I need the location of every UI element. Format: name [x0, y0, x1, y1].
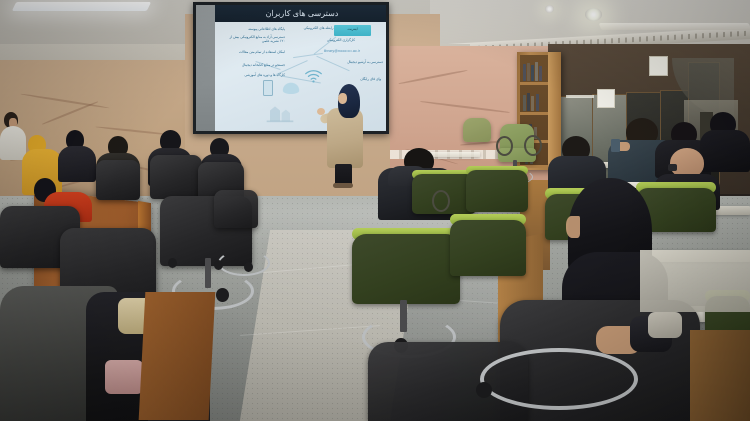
chair-arm-loop: [432, 190, 450, 212]
lecture-hall-photo: دسترسی های کاربران پایگاه های اطلاعاتی پ…: [0, 0, 750, 421]
wood-panel-foreground: [139, 292, 216, 420]
slide-text-block-8: دسترسی به آرشیو دیجیتال: [341, 60, 383, 64]
auditorium-seat[interactable]: [352, 234, 460, 304]
book: [535, 62, 538, 81]
wood-panel-right-front: [690, 330, 750, 421]
ceiling-beam: [599, 23, 750, 30]
shelf-board: [520, 82, 548, 85]
office-chair[interactable]: [150, 155, 202, 199]
university-logo: [263, 103, 297, 123]
slide-text-block-2: دسترسی آزاد به منابع الکترونیکی بیش از ۱…: [225, 35, 285, 43]
audience-member: [58, 130, 100, 182]
auditorium-seat[interactable]: [466, 170, 528, 212]
slide-title: دسترسی های کاربران: [243, 7, 361, 20]
chair-caster: [214, 260, 223, 270]
chair-base: [480, 348, 638, 410]
cloud-icon: [281, 81, 301, 94]
book: [527, 93, 530, 111]
office-chair[interactable]: [214, 190, 258, 228]
presenter-hand: [317, 108, 325, 115]
auditorium-seat[interactable]: [450, 220, 526, 276]
sage-chair-back-2[interactable]: [463, 118, 491, 142]
presenter: [320, 82, 368, 190]
desk-right-front: [640, 250, 750, 312]
book: [523, 64, 526, 81]
foreground-pink-item: [105, 360, 143, 394]
foreground-paper: [648, 312, 682, 338]
slide-text-block-9: وای فای رایگان: [337, 77, 381, 81]
slide-text-block-5: کارگاه ها و دوره های آموزشی: [231, 73, 285, 77]
slide-text-block-3: امکان استفاده از تمام متن مقالات: [231, 50, 285, 54]
chair-caster: [476, 382, 492, 398]
door-sign: [649, 56, 668, 76]
mobile-icon: [263, 80, 273, 96]
book: [539, 66, 542, 81]
phone-icon: [611, 139, 620, 152]
presenter-shoes: [333, 183, 353, 188]
ceiling-spotlight-secondary-icon: [545, 5, 554, 13]
slide-text-block-4: جستجو در منابع کتابخانه دیجیتال: [233, 63, 285, 67]
office-chair[interactable]: [96, 160, 140, 200]
shelf-board: [520, 112, 548, 115]
book: [531, 65, 534, 81]
slide-text-block-1: پایگاه های اطلاعاتی پیوسته: [229, 27, 285, 31]
chair-arm-loop: [496, 136, 513, 156]
book: [536, 94, 539, 111]
posted-notice: [597, 89, 615, 108]
chair-arm-loop: [524, 135, 542, 156]
slide-highlight-label: اینترنت: [336, 27, 369, 31]
chair-caster: [168, 258, 177, 268]
ceiling-spotlight-icon: [585, 8, 602, 21]
wifi-icon: [304, 69, 323, 83]
slide-email-text: library@nooo••••.ac.ir: [311, 49, 373, 53]
slide-text-block-7: کارگزاری الکترونیکی: [305, 38, 355, 42]
book: [531, 96, 534, 111]
presenter-face: [338, 93, 347, 104]
book: [523, 95, 526, 111]
glass-reflection-strip: [566, 95, 594, 98]
chair-base: [218, 250, 270, 276]
fluorescent-strip-icon: [12, 2, 151, 11]
book: [527, 63, 530, 81]
chair-caster: [216, 288, 229, 302]
